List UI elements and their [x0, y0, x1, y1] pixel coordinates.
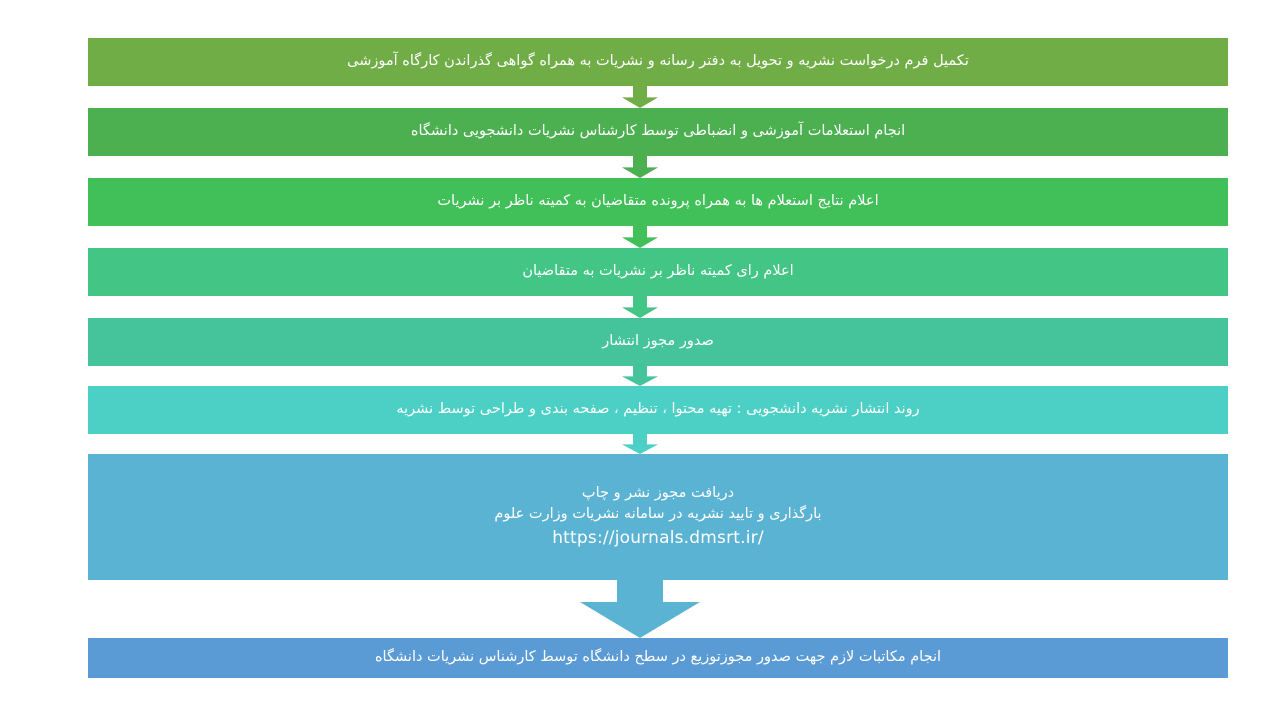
flow-arrow-down-icon	[0, 366, 1280, 386]
step-label: انجام مکاتبات لازم جهت صدور مجوزتوزیع در…	[104, 647, 1212, 669]
step-label: انجام استعلامات آموزشی و انضباطی توسط کا…	[104, 121, 1212, 143]
flow-arrow-down-icon	[0, 580, 1280, 638]
flow-step-box: انجام مکاتبات لازم جهت صدور مجوزتوزیع در…	[88, 638, 1228, 678]
flow-arrow-down-icon	[0, 226, 1280, 248]
step-label: تکمیل فرم درخواست نشریه و تحویل به دفتر …	[104, 51, 1212, 73]
flowchart-canvas: تکمیل فرم درخواست نشریه و تحویل به دفتر …	[0, 0, 1280, 720]
flow-step-box: اعلام رای کمیته ناظر بر نشریات به متقاضی…	[88, 248, 1228, 296]
flow-step-box: تکمیل فرم درخواست نشریه و تحویل به دفتر …	[88, 38, 1228, 86]
flow-arrow-down-icon	[0, 156, 1280, 178]
step-url-text[interactable]: https://journals.dmsrt.ir/	[104, 526, 1212, 552]
step-label: روند انتشار نشریه دانشجویی : تهیه محتوا …	[104, 399, 1212, 421]
step-label: صدور مجوز انتشار	[104, 331, 1212, 353]
flow-step-box: صدور مجوز انتشار	[88, 318, 1228, 366]
flow-arrow-down-icon	[0, 296, 1280, 318]
flow-step-box: اعلام نتایج استعلام ها به همراه پرونده م…	[88, 178, 1228, 226]
step-label: بارگذاری و تایید نشریه در سامانه نشریات …	[104, 504, 1212, 526]
flow-step-box: دریافت مجوز نشر و چاپبارگذاری و تایید نش…	[88, 454, 1228, 580]
flow-arrow-down-icon	[0, 434, 1280, 454]
flow-arrow-down-icon	[0, 86, 1280, 108]
flow-step-box: روند انتشار نشریه دانشجویی : تهیه محتوا …	[88, 386, 1228, 434]
step-label: اعلام نتایج استعلام ها به همراه پرونده م…	[104, 191, 1212, 213]
step-label: دریافت مجوز نشر و چاپ	[104, 483, 1212, 505]
step-label: اعلام رای کمیته ناظر بر نشریات به متقاضی…	[104, 261, 1212, 283]
flow-step-box: انجام استعلامات آموزشی و انضباطی توسط کا…	[88, 108, 1228, 156]
